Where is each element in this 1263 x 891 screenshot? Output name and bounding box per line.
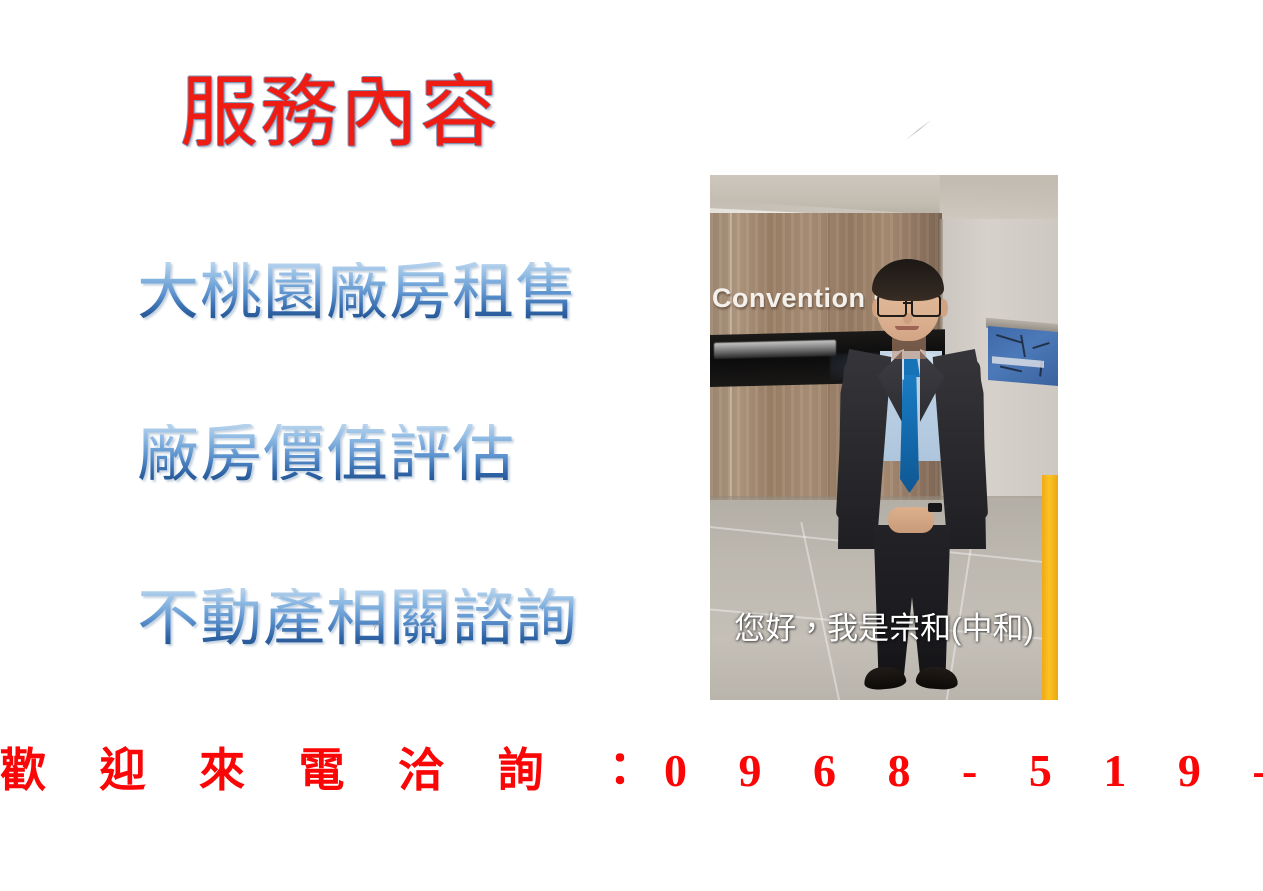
poster-marking — [996, 334, 1022, 344]
service-item-1: 大桃園廠房租售 — [137, 262, 578, 324]
service-item-3: 不動產相關諮詢 — [137, 588, 578, 650]
blue-poster — [988, 326, 1058, 386]
service-item-2: 廠房價值評估 — [137, 424, 515, 486]
poster-marking — [1020, 335, 1026, 357]
page-title: 服務內容 — [180, 74, 500, 152]
poster-marking — [1032, 342, 1049, 349]
smudge-artifact: ᜆ — [372, 616, 385, 634]
trousers — [872, 525, 952, 675]
mouth — [895, 326, 919, 330]
shoe — [915, 666, 958, 691]
portrait-photo: Convention Ce — [710, 175, 1058, 700]
necktie — [900, 375, 919, 493]
contact-label: 歡 迎 來 電 洽 詢 ： — [0, 745, 664, 796]
clasped-hands — [888, 507, 934, 533]
counter-reflection — [714, 340, 836, 359]
glasses-bridge — [903, 302, 911, 304]
diagonal-artifact — [905, 119, 932, 141]
hair — [872, 259, 944, 301]
wristwatch — [928, 503, 942, 512]
slide-canvas: 服務內容 大桃園廠房租售 廠房價值評估 不動產相關諮詢 ᜆ Convention… — [0, 0, 1263, 891]
contact-line: 歡 迎 來 電 洽 詢 ：0 9 6 8 - 5 1 9 - 8 8 8 — [0, 748, 1263, 794]
poster-marking — [1000, 365, 1022, 372]
contact-phone-number: 0 9 6 8 - 5 1 9 - 8 8 8 — [664, 745, 1263, 796]
photo-caption: 您好，我是宗和(中和) — [710, 613, 1058, 644]
yellow-accent-stripe — [1042, 475, 1058, 700]
